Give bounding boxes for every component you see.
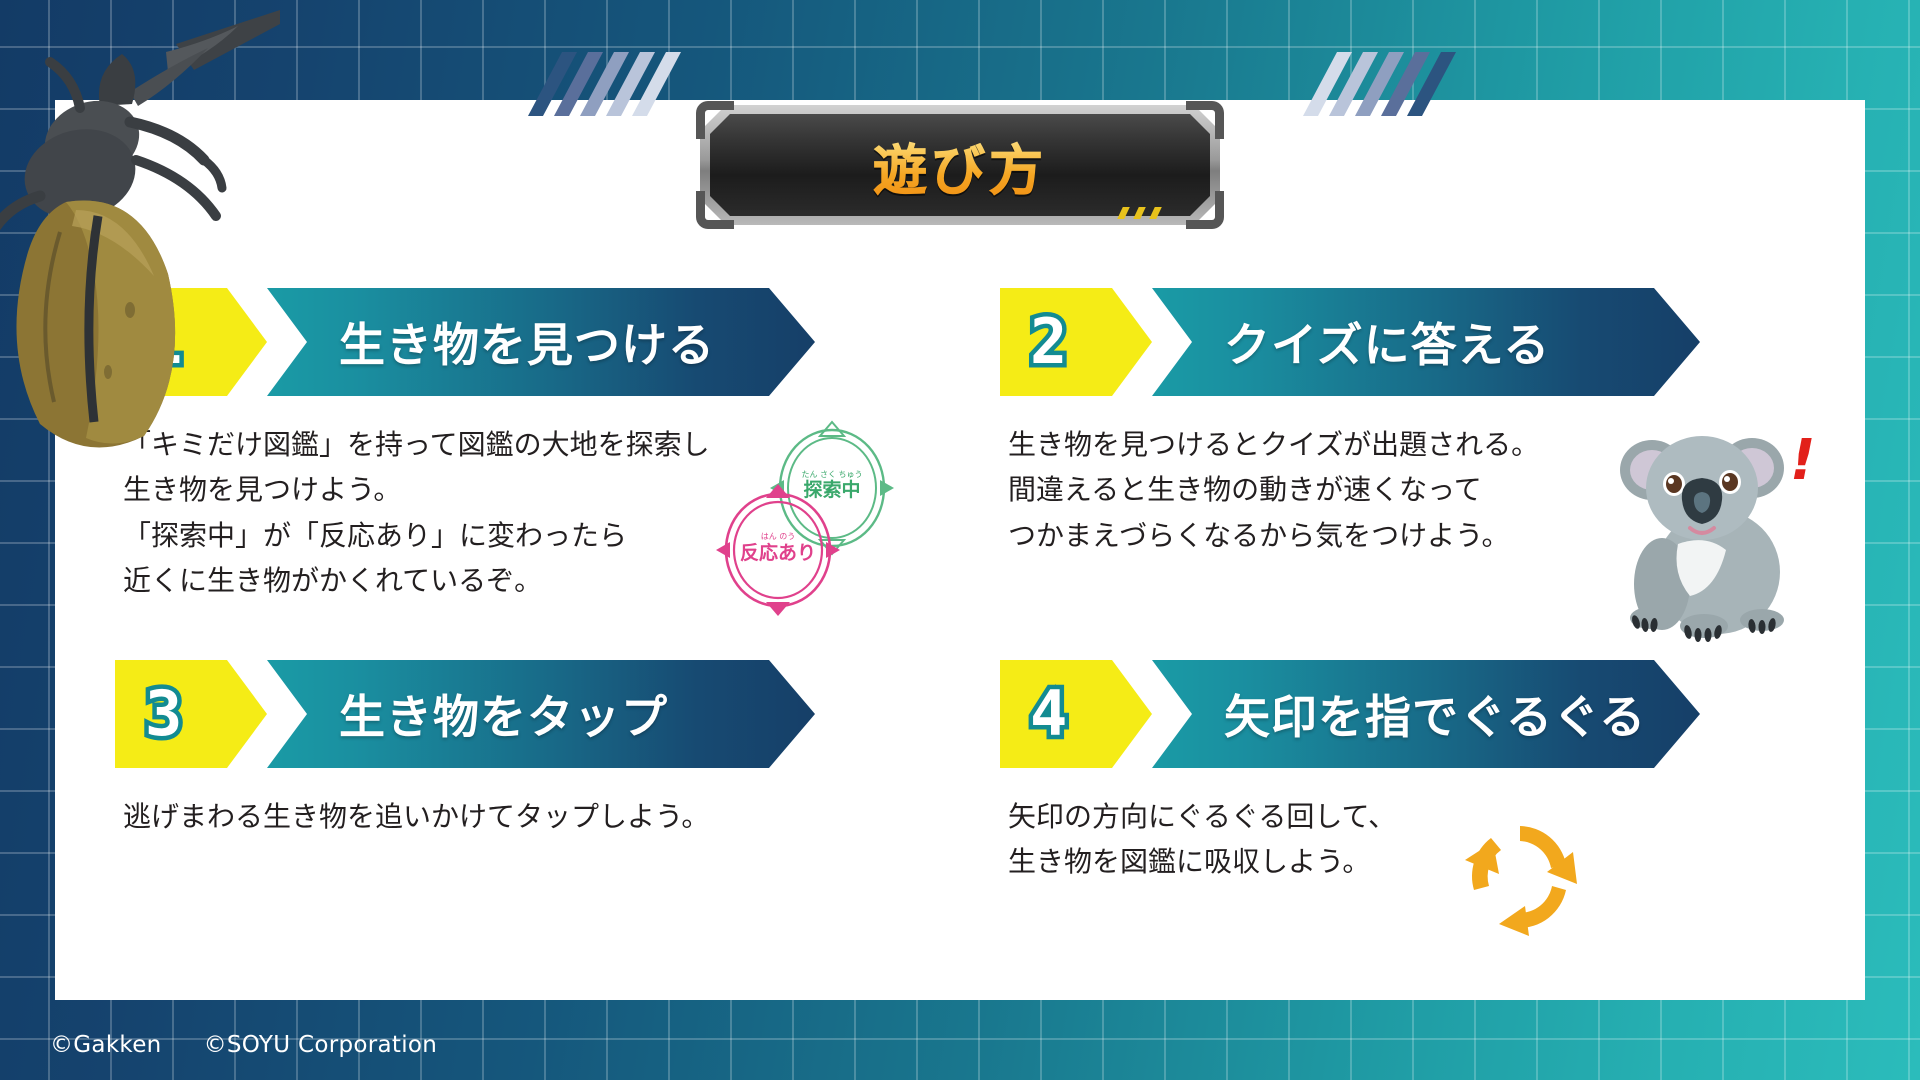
plate-corner-top-left bbox=[696, 101, 734, 139]
detected-label: 反応あり bbox=[740, 541, 816, 564]
copyright-gakken: ©Gakken bbox=[50, 1032, 162, 1058]
plate-corner-top-right bbox=[1186, 101, 1224, 139]
step-4: 4 矢印を指でぐるぐる 矢印の方向にぐるぐる回して、 生き物を図鑑に吸収しよう。 bbox=[1000, 660, 1700, 885]
copyright-soyu: ©SOYU Corporation bbox=[204, 1032, 438, 1058]
plate-corner-bottom-left bbox=[696, 191, 734, 229]
footer-copyright: ©Gakken ©SOYU Corporation bbox=[50, 1032, 437, 1058]
detected-ruby: はん のう bbox=[761, 532, 796, 541]
step-3-title-bar: 生き物をタップ bbox=[227, 660, 815, 768]
detected-indicator-icon: はん のう 反応あり bbox=[716, 484, 840, 616]
step-4-header: 4 矢印を指でぐるぐる bbox=[1000, 660, 1700, 768]
plate-corner-bottom-right bbox=[1186, 191, 1224, 229]
step-3-number-chip: 3 bbox=[115, 660, 267, 768]
step-2-header: 2 クイズに答える bbox=[1000, 288, 1700, 396]
searching-ruby: たん さく ちゅう bbox=[801, 470, 862, 479]
step-2-number: 2 bbox=[1030, 311, 1067, 373]
step-3: 3 生き物をタップ 逃げまわる生き物を追いかけてタップしよう。 bbox=[115, 660, 815, 839]
title-plate: 遊び方 bbox=[700, 105, 1220, 225]
step-1-title: 生き物を見つける bbox=[339, 309, 715, 375]
step-2-body: 生き物を見つけるとクイズが出題される。 間違えると生き物の動きが速くなって つか… bbox=[1000, 422, 1640, 558]
title-plate-inner: 遊び方 bbox=[710, 114, 1210, 216]
plate-accent-ticks bbox=[1120, 207, 1176, 219]
step-4-number-chip: 4 bbox=[1000, 660, 1152, 768]
step-2-number-chip: 2 bbox=[1000, 288, 1152, 396]
step-4-number: 4 bbox=[1030, 683, 1067, 745]
decor-stripes-right bbox=[1320, 52, 1470, 116]
rotate-arrows-icon bbox=[1455, 812, 1585, 942]
slide-root: 遊び方 1 生き物を見つける 「キミだけ図鑑」を持って図鑑の大地を探索し 生き物… bbox=[0, 0, 1920, 1080]
step-3-title: 生き物をタップ bbox=[339, 681, 668, 747]
page-title: 遊び方 bbox=[873, 126, 1047, 205]
step-2-title-bar: クイズに答える bbox=[1112, 288, 1700, 396]
step-1-title-bar: 生き物を見つける bbox=[227, 288, 815, 396]
step-4-title: 矢印を指でぐるぐる bbox=[1224, 681, 1646, 747]
searching-label: 探索中 bbox=[803, 478, 860, 501]
decor-stripes-left bbox=[545, 52, 695, 116]
step-3-body: 逃げまわる生き物を追いかけてタップしよう。 bbox=[115, 794, 795, 839]
step-4-title-bar: 矢印を指でぐるぐる bbox=[1112, 660, 1700, 768]
step-2-title: クイズに答える bbox=[1224, 309, 1550, 375]
step-2: 2 クイズに答える 生き物を見つけるとクイズが出題される。 間違えると生き物の動… bbox=[1000, 288, 1700, 558]
beetle-illustration bbox=[0, 10, 280, 490]
alert-exclamation-icon: ! bbox=[1790, 428, 1816, 493]
radar-status-graphic: たん さく ちゅう 探索中 はん のう 反応あり bbox=[700, 418, 910, 618]
step-3-header: 3 生き物をタップ bbox=[115, 660, 815, 768]
step-3-number: 3 bbox=[145, 683, 182, 745]
